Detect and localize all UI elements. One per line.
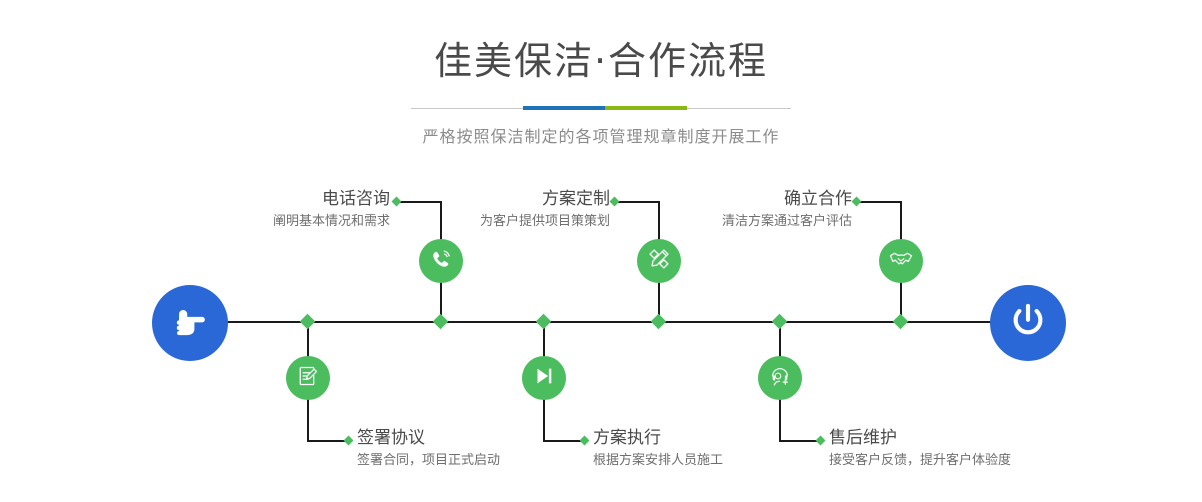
play-execute-icon: [531, 363, 557, 394]
document-pencil-icon: [295, 363, 321, 394]
step-icon-circle[interactable]: [286, 356, 330, 400]
step-title: 售后维护: [829, 427, 1189, 449]
phone-ring-icon: [428, 246, 454, 277]
axis-marker: [893, 314, 909, 330]
process-timeline: 电话咨询 阐明基本情况和需求 签署协议 签署合同，: [0, 0, 1202, 502]
timeline-end-node: [990, 285, 1066, 361]
axis-marker: [300, 314, 316, 330]
connector-horizontal: [397, 201, 442, 203]
label-marker: [852, 197, 862, 207]
label-marker: [344, 436, 354, 446]
step-title: 确立合作: [565, 188, 852, 210]
pointing-hand-icon: [168, 299, 212, 348]
step-description: 清洁方案通过客户评估: [565, 212, 852, 232]
timeline-start-node: [152, 285, 228, 361]
step-label: 售后维护 接受客户反馈，提升客户体验度: [829, 427, 1189, 471]
step-description: 接受客户反馈，提升客户体验度: [829, 451, 1189, 471]
step-icon-circle[interactable]: [758, 356, 802, 400]
step-icon-circle[interactable]: [522, 356, 566, 400]
step-label: 确立合作 清洁方案通过客户评估: [565, 188, 852, 232]
axis-marker: [536, 314, 552, 330]
step-icon-circle[interactable]: [637, 239, 681, 283]
step-icon-circle[interactable]: [419, 239, 463, 283]
power-button-icon: [1006, 299, 1050, 348]
headset-support-icon: [767, 363, 793, 394]
handshake-icon: [888, 246, 914, 277]
axis-marker: [433, 314, 449, 330]
connector-horizontal: [615, 201, 660, 203]
axis-marker: [772, 314, 788, 330]
axis-marker: [651, 314, 667, 330]
step-icon-circle[interactable]: [879, 239, 923, 283]
flow-diagram-page: 佳美保洁·合作流程 严格按照保洁制定的各项管理规章制度开展工作: [0, 0, 1202, 502]
pencil-ruler-icon: [646, 246, 672, 277]
connector-horizontal: [857, 201, 902, 203]
